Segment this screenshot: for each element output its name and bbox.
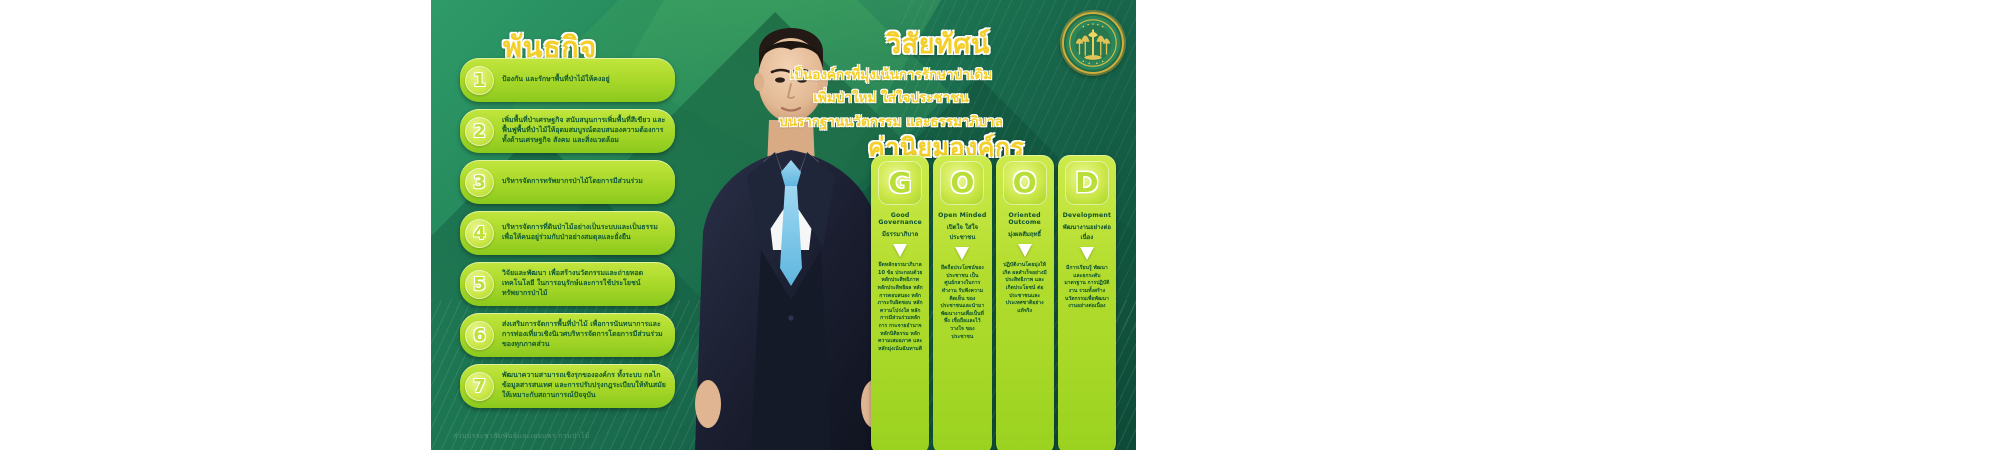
good-column-o1[interactable]: O Open Minded เปิดใจ ใส่ใจประชาชน ยึดถือ… <box>933 155 991 450</box>
vision-line-1: เป็นองค์กรที่มุ่งเน้นการรักษาป่าเดิม <box>671 63 1111 85</box>
mission-text-6: ส่งเสริมการจัดการพื้นที่ป่าไม้ เพื่อการน… <box>502 320 666 350</box>
mission-number-1: 1 <box>465 66 494 95</box>
mission-number-5: 5 <box>465 270 494 299</box>
good-thai-o1: เปิดใจ ใส่ใจประชาชน <box>936 222 988 242</box>
mission-number-3: 3 <box>465 168 494 197</box>
good-english-o2: Oriented Outcome <box>999 212 1051 226</box>
good-english-o1: Open Minded <box>938 212 986 219</box>
mission-text-4: บริหารจัดการที่ดินป่าไม้อย่างเป็นระบบและ… <box>502 223 666 243</box>
vision-title: วิสัยทัศน์ <box>886 22 990 65</box>
mission-text-1: ป้องกัน และรักษาพื้นที่ป่าไม้ให้คงอยู่ <box>502 75 666 85</box>
mission-item-6[interactable]: 6 ส่งเสริมการจัดการพื้นที่ป่าไม้ เพื่อกา… <box>460 313 675 357</box>
good-body-o2: ปฏิบัติงานโดยมุ่งให้เกิด ผลสำเร็จอย่างมี… <box>999 262 1051 315</box>
screenshot-canvas: พันธกิจ 1 ป้องกัน และรักษาพื้นที่ป่าไม้ใ… <box>0 0 2000 450</box>
good-thai-g: มีธรรมาภิบาล <box>882 229 918 239</box>
good-values-row: G Good Governance มีธรรมาภิบาล ยึดหลักธร… <box>871 155 1116 450</box>
good-english-g: Good Governance <box>874 212 926 226</box>
down-arrow-icon-o2 <box>1018 244 1032 257</box>
watermark-credit: ส่วนปรระชาสัมพันธ์และเผยแพร่ กรมป่าไม้ <box>453 431 590 442</box>
good-letter-o2: O <box>1013 169 1037 197</box>
good-column-o2[interactable]: O Oriented Outcome มุ่งผลสัมฤทธิ์ ปฏิบัต… <box>996 155 1054 450</box>
good-column-g[interactable]: G Good Governance มีธรรมาภิบาล ยึดหลักธร… <box>871 155 929 450</box>
good-thai-d: พัฒนางานอย่างต่อเนื่อง <box>1061 222 1113 242</box>
mission-item-3[interactable]: 3 บริหารจัดการทรัพยากรป่าไม้โดยการมีส่วน… <box>460 160 675 204</box>
mission-list: 1 ป้องกัน และรักษาพื้นที่ป่าไม้ให้คงอยู่… <box>460 58 675 415</box>
good-letter-badge-d: D <box>1065 161 1109 205</box>
good-english-d: Development <box>1063 212 1112 219</box>
mission-number-4: 4 <box>465 219 494 248</box>
good-letter-o1: O <box>950 169 974 197</box>
good-letter-d: D <box>1075 169 1098 197</box>
good-body-d: มีการเรียนรู้ พัฒนา และยกระดับมาตรฐาน กา… <box>1061 265 1113 311</box>
mission-number-7: 7 <box>465 372 494 401</box>
mission-item-5[interactable]: 5 วิจัยและพัฒนา เพื่อสร้างนวัตกรรมและถ่า… <box>460 262 675 306</box>
down-arrow-icon-g <box>893 244 907 257</box>
forestry-vision-mission-poster: พันธกิจ 1 ป้องกัน และรักษาพื้นที่ป่าไม้ใ… <box>431 0 1136 450</box>
down-arrow-icon-o1 <box>955 247 969 260</box>
good-letter-badge-o1: O <box>940 161 984 205</box>
good-body-o1: ยึดถือประโยชน์ของประชาชน เป็นศูนย์กลางใน… <box>936 265 988 341</box>
down-arrow-icon-d <box>1080 247 1094 260</box>
good-letter-badge-g: G <box>878 161 922 205</box>
mission-item-2[interactable]: 2 เพิ่มพื้นที่ป่าเศรษฐกิจ สนับสนุนการเพิ… <box>460 109 675 153</box>
mission-text-7: พัฒนาความสามารถเชิงรุกขององค์กร ทั้งระบบ… <box>502 371 666 401</box>
mission-item-1[interactable]: 1 ป้องกัน และรักษาพื้นที่ป่าไม้ให้คงอยู่ <box>460 58 675 102</box>
good-body-g: ยึดหลักธรรมาภิบาล 10 ข้อ ประกอบด้วยหลักป… <box>874 262 926 354</box>
royal-forest-department-seal-icon <box>1062 12 1124 74</box>
mission-text-5: วิจัยและพัฒนา เพื่อสร้างนวัตกรรมและถ่ายท… <box>502 269 666 299</box>
mission-text-3: บริหารจัดการทรัพยากรป่าไม้โดยการมีส่วนร่… <box>502 177 666 187</box>
vision-line-2: เพิ่มป่าใหม่ ใส่ใจประชาชน <box>671 86 1111 108</box>
good-thai-o2: มุ่งผลสัมฤทธิ์ <box>1008 229 1041 239</box>
good-letter-g: G <box>889 169 912 197</box>
mission-item-4[interactable]: 4 บริหารจัดการที่ดินป่าไม้อย่างเป็นระบบแ… <box>460 211 675 255</box>
mission-text-2: เพิ่มพื้นที่ป่าเศรษฐกิจ สนับสนุนการเพิ่ม… <box>502 116 666 146</box>
mission-number-6: 6 <box>465 321 494 350</box>
good-column-d[interactable]: D Development พัฒนางานอย่างต่อเนื่อง มีก… <box>1058 155 1116 450</box>
mission-number-2: 2 <box>465 117 494 146</box>
good-letter-badge-o2: O <box>1003 161 1047 205</box>
mission-item-7[interactable]: 7 พัฒนาความสามารถเชิงรุกขององค์กร ทั้งระ… <box>460 364 675 408</box>
